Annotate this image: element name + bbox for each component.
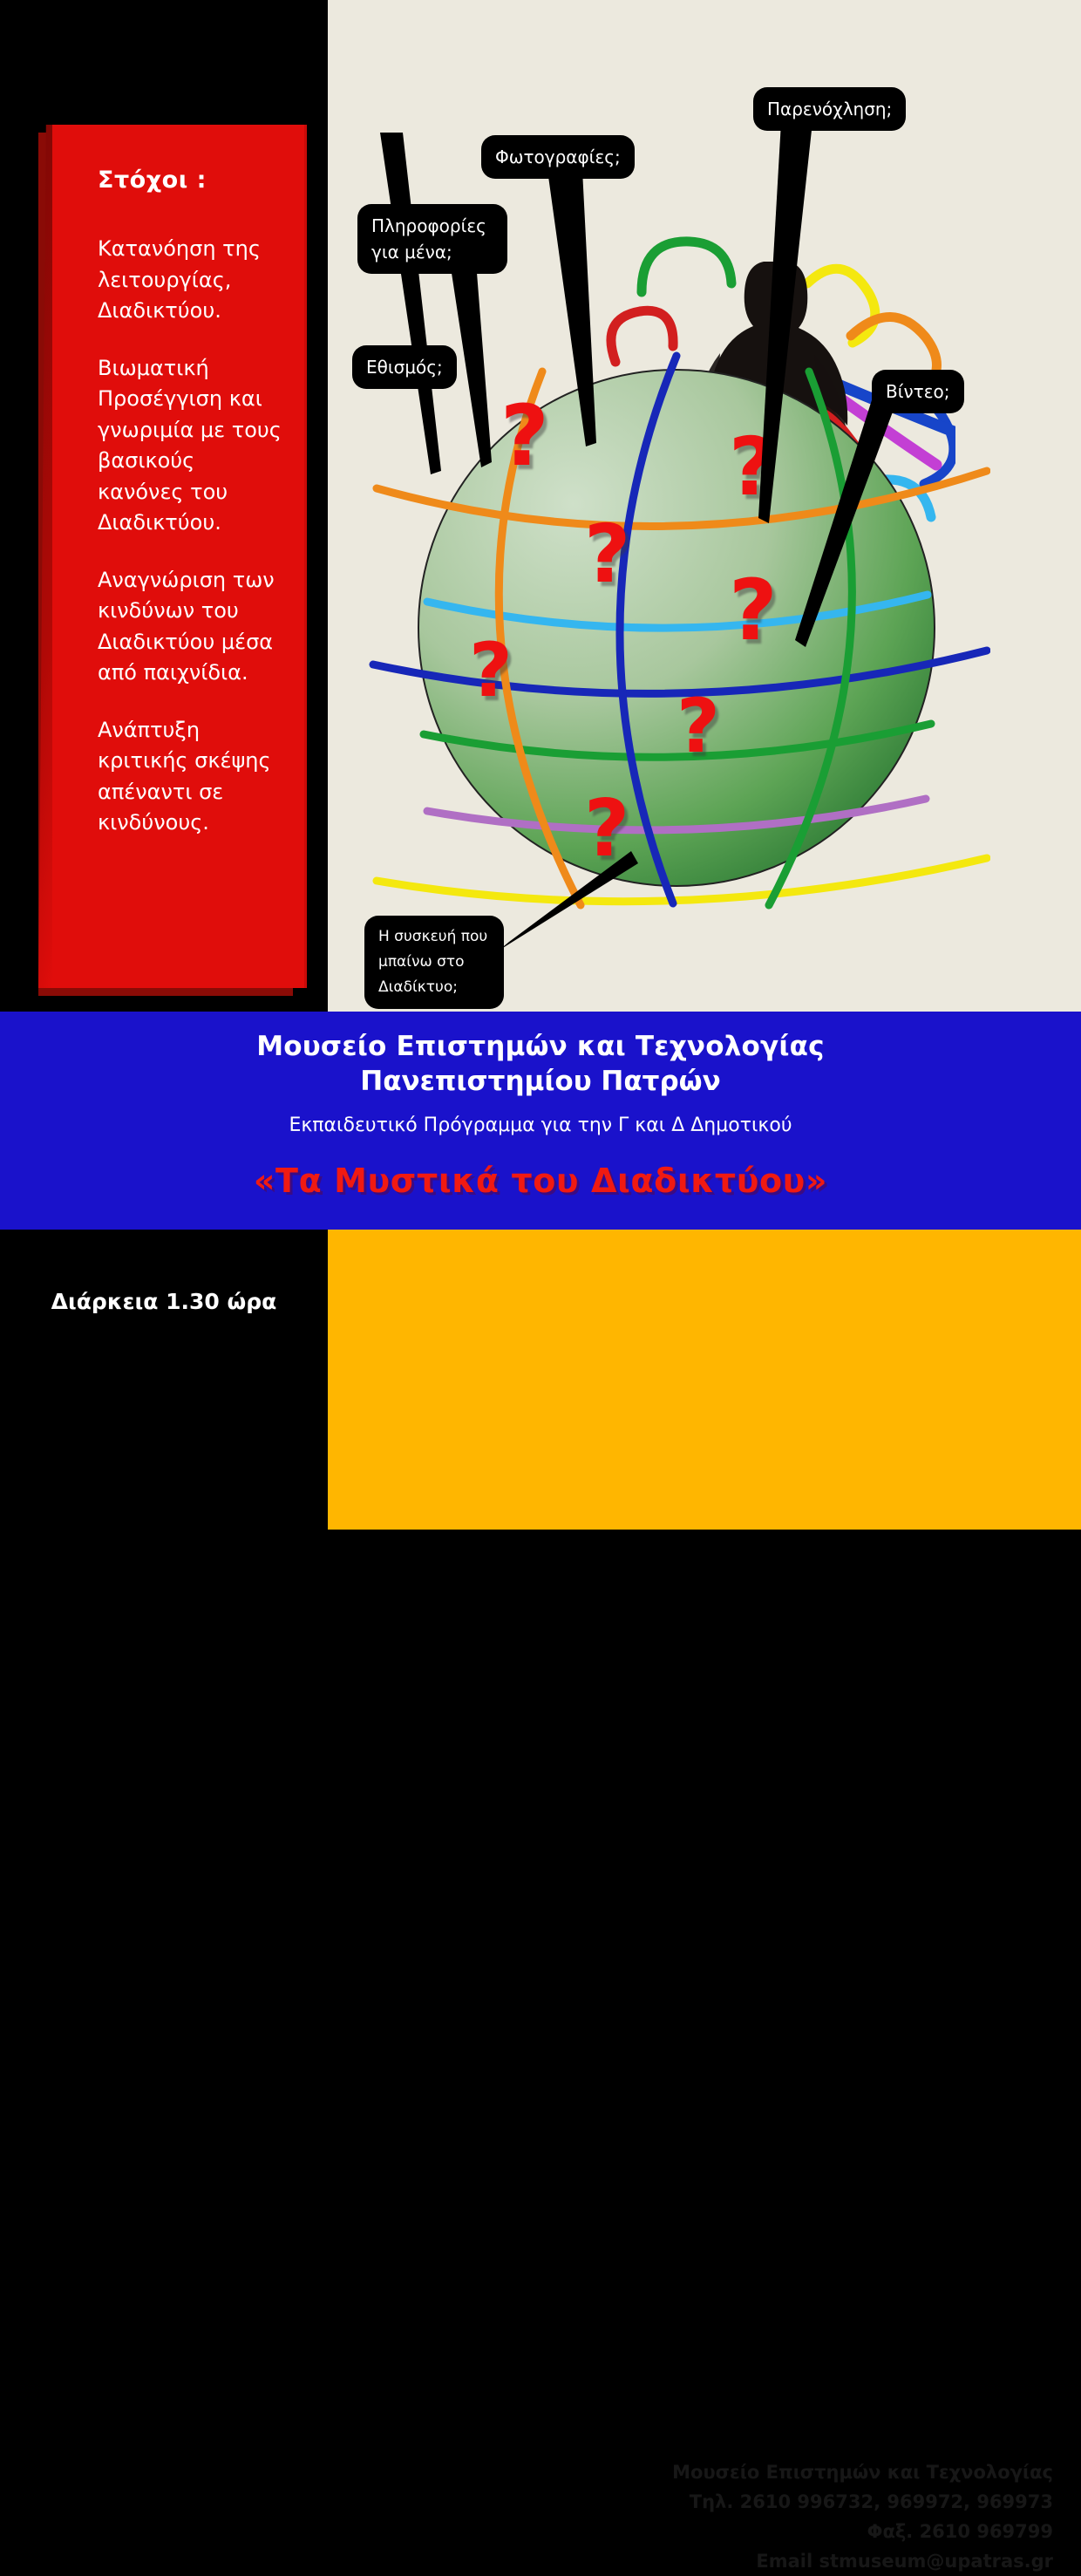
museum-name-line2: Πανεπιστημίου Πατρών bbox=[0, 1066, 1081, 1097]
bubble-ethismos[interactable]: Εθισμός; bbox=[352, 345, 457, 389]
poster-root: ? ? ? ? ? ? ? bbox=[0, 0, 1081, 1530]
blue-footer-band: Μουσείο Επιστημών και Τεχνολογίας Πανεπι… bbox=[0, 1012, 1081, 1230]
illustration-pane: ? ? ? ? ? ? ? bbox=[328, 0, 1081, 1012]
contact-phone: Τηλ. 2610 996732, 969972, 969973 bbox=[443, 2487, 1053, 2517]
museum-name-line1: Μουσείο Επιστημών και Τεχνολογίας bbox=[0, 1031, 1081, 1062]
bubble-ethismos-label: Εθισμός; bbox=[366, 357, 443, 378]
bubble-parenoxlisi-label: Παρενόχληση; bbox=[767, 99, 892, 119]
objectives-heading: Στόχοι : bbox=[98, 167, 284, 194]
objectives-panel: Στόχοι : Κατανόηση της λειτουργίας, Διαδ… bbox=[52, 125, 307, 988]
bubble-siskevi[interactable]: Η συσκευή που μπαίνω στο Διαδίκτυο; bbox=[364, 916, 504, 1009]
duration-panel bbox=[0, 1230, 328, 1530]
bubble-plirofories-label: Πληροφορίες για μένα; bbox=[371, 215, 486, 262]
duration-label: Διάρκεια 1.30 ώρα bbox=[0, 1289, 328, 1314]
bubble-fotografies[interactable]: Φωτογραφίες; bbox=[481, 135, 635, 179]
objective-item: Βιωματική Προσέγγιση και γνωριμία με του… bbox=[98, 353, 284, 539]
bubble-vinteo[interactable]: Βίντεο; bbox=[872, 370, 964, 413]
bubble-parenoxlisi[interactable]: Παρενόχληση; bbox=[753, 87, 906, 131]
contact-email[interactable]: Email stmuseum@upatras.gr bbox=[443, 2546, 1053, 2576]
bubble-vinteo-label: Βίντεο; bbox=[886, 381, 950, 402]
program-title: «Τα Μυστικά του Διαδικτύου» bbox=[0, 1162, 1081, 1200]
contact-org: Μουσείο Επιστημών και Τεχνολογίας bbox=[443, 2457, 1053, 2487]
bubble-fotografies-label: Φωτογραφίες; bbox=[495, 147, 621, 167]
objective-item: Αναγνώριση των κινδύνων του Διαδικτύου μ… bbox=[98, 565, 284, 689]
contact-fax: Φαξ. 2610 969799 bbox=[443, 2517, 1053, 2546]
program-subtitle: Εκπαιδευτικό Πρόγραμμα για την Γ και Δ Δ… bbox=[0, 1114, 1081, 1136]
objective-item: Ανάπτυξη κριτικής σκέψης απέναντι σε κιν… bbox=[98, 715, 284, 839]
bubble-siskevi-label: Η συσκευή που μπαίνω στο Διαδίκτυο; bbox=[378, 928, 487, 996]
objective-item: Κατανόηση της λειτουργίας, Διαδικτύου. bbox=[98, 234, 284, 327]
contact-panel: Μουσείο Επιστημών και Τεχνολογίας Τηλ. 2… bbox=[328, 1230, 1081, 1530]
bubble-pointer-lines bbox=[328, 0, 1081, 1012]
bubble-plirofories[interactable]: Πληροφορίες για μένα; bbox=[357, 204, 507, 274]
